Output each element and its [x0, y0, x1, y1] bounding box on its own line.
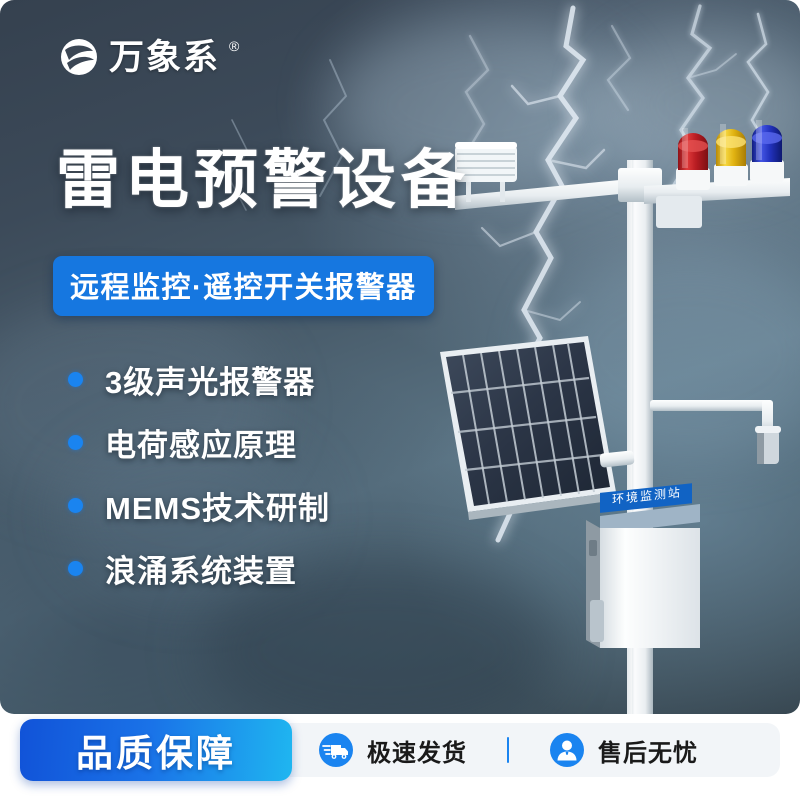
control-cabinet: 环境监测站	[586, 483, 700, 648]
trust-badge-bar: 品质保障 极速发货	[20, 719, 780, 781]
delivery-truck-icon	[318, 732, 354, 768]
bullet-dot-icon	[68, 372, 83, 387]
brand-logo: 万象系 ®	[58, 36, 239, 78]
quality-guarantee-label: 品质保障	[76, 723, 236, 777]
quality-guarantee-badge[interactable]: 品质保障	[20, 719, 292, 781]
feature-label: 浪涌系统装置	[105, 546, 297, 591]
shipping-label: 极速发货	[367, 733, 467, 768]
feature-label: MEMS技术研制	[105, 483, 330, 528]
alarm-beacon-yellow	[714, 124, 748, 186]
list-item: 电荷感应原理	[68, 411, 330, 474]
feature-list: 3级声光报警器 电荷感应原理 MEMS技术研制 浪涌系统装置	[68, 348, 330, 600]
alarm-beacon-blue	[750, 120, 784, 182]
feature-label: 3级声光报警器	[105, 357, 315, 402]
page-title: 雷电预警设备	[56, 146, 470, 215]
trust-item-aftersales[interactable]: 售后无忧	[549, 732, 698, 768]
registered-trademark-icon: ®	[229, 38, 239, 54]
subtitle-badge: 远程监控·遥控开关报警器	[53, 256, 434, 316]
alarm-beacon-red	[676, 128, 710, 190]
trust-items-container: 极速发货 售后无忧	[276, 723, 780, 777]
brand-name: 万象系	[109, 40, 220, 75]
list-item: MEMS技术研制	[68, 474, 330, 537]
product-hero-photo: 环境监测站 万象系 ® 雷电预警设备 远程监控·遥控开关报警器	[0, 0, 800, 714]
bullet-dot-icon	[68, 435, 83, 450]
divider	[507, 737, 509, 763]
support-agent-icon	[549, 732, 585, 768]
bullet-dot-icon	[68, 561, 83, 576]
list-item: 浪涌系统装置	[68, 537, 330, 600]
cylindrical-sensor	[755, 426, 781, 464]
feature-label: 电荷感应原理	[105, 420, 297, 465]
list-item: 3级声光报警器	[68, 348, 330, 411]
cross-arm-lower	[650, 400, 773, 438]
swoosh-circle-logo-icon	[58, 36, 100, 78]
advertisement-banner: 环境监测站 万象系 ® 雷电预警设备 远程监控·遥控开关报警器	[0, 0, 800, 800]
trust-item-shipping[interactable]: 极速发货	[318, 732, 467, 768]
bullet-dot-icon	[68, 498, 83, 513]
aftersales-label: 售后无忧	[598, 733, 698, 768]
